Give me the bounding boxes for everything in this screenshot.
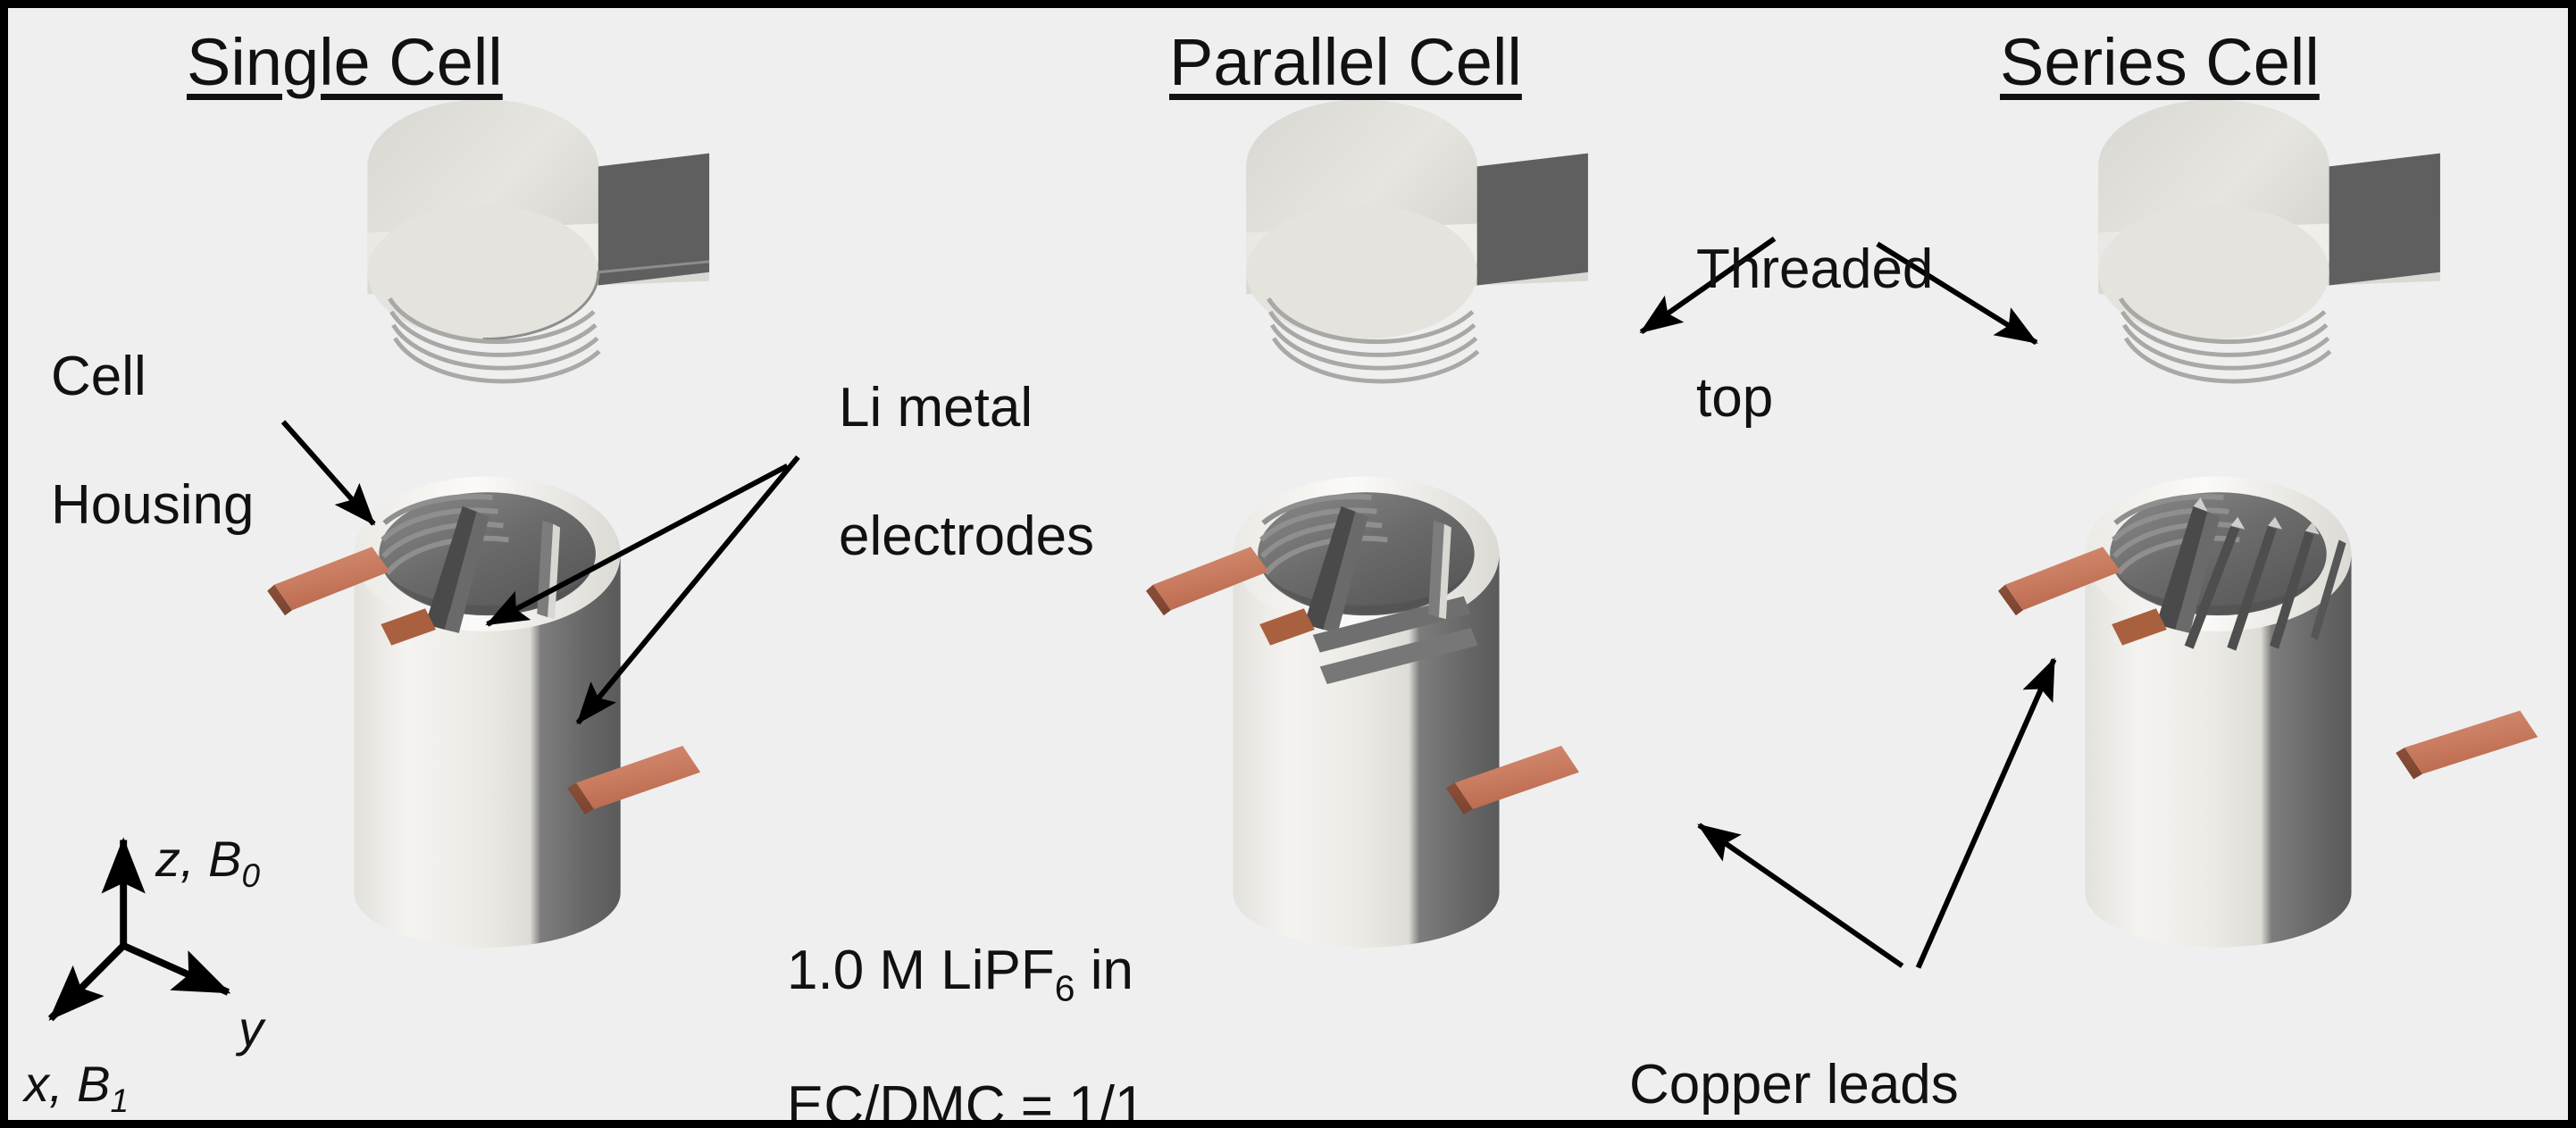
electrolyte-line1: 1.0 M LiPF6 in — [787, 940, 1133, 1001]
cell-diagram-canvas — [8, 8, 2568, 1120]
title-parallel-cell: Parallel Cell — [1169, 24, 1522, 100]
figure-panel: Single Cell Parallel Cell Series Cell Ce… — [0, 0, 2576, 1128]
axis-x — [51, 946, 123, 1019]
threaded-cap-single — [367, 100, 709, 381]
li-electrodes-line1: Li metal — [839, 377, 1033, 439]
cell-parallel — [1146, 100, 1588, 948]
cell-series — [1998, 100, 2538, 948]
cell-housing-series — [1998, 476, 2538, 947]
cell-housing-line2: Housing — [51, 474, 254, 536]
arrow-cell-housing — [283, 422, 373, 523]
cell-housing-parallel — [1146, 476, 1579, 947]
electrolyte-line2: EC/DMC = 1/1 — [787, 1075, 1145, 1128]
li-electrodes-line2: electrodes — [839, 506, 1094, 567]
axis-y — [123, 946, 228, 992]
threaded-top-line1: Threaded — [1696, 238, 1933, 300]
label-electrolyte: 1.0 M LiPF6 in EC/DMC = 1/1 (v/v) — [787, 874, 1145, 1128]
label-copper-leads: Copper leads — [1629, 989, 1959, 1117]
label-cell-housing: Cell Housing — [51, 280, 254, 538]
copper-leads-text: Copper leads — [1629, 1054, 1959, 1115]
title-single-cell: Single Cell — [187, 24, 503, 100]
axis-label-y: y — [238, 999, 263, 1057]
cell-single — [267, 100, 709, 948]
threaded-cap-parallel — [1246, 100, 1588, 381]
cell-housing-line1: Cell — [51, 346, 146, 407]
axis-label-x: x, B1 — [24, 1055, 129, 1120]
arrow-copper-lead-left — [1699, 825, 1903, 966]
axis-label-z: z, B0 — [155, 830, 260, 895]
threaded-top-line2: top — [1696, 367, 1773, 429]
label-li-metal-electrodes: Li metal electrodes — [839, 312, 1094, 569]
label-threaded-top: Threaded top — [1696, 173, 1933, 430]
threaded-cap-series — [2098, 100, 2440, 381]
title-series-cell: Series Cell — [2000, 24, 2320, 100]
arrow-copper-lead-right — [1919, 659, 2054, 967]
